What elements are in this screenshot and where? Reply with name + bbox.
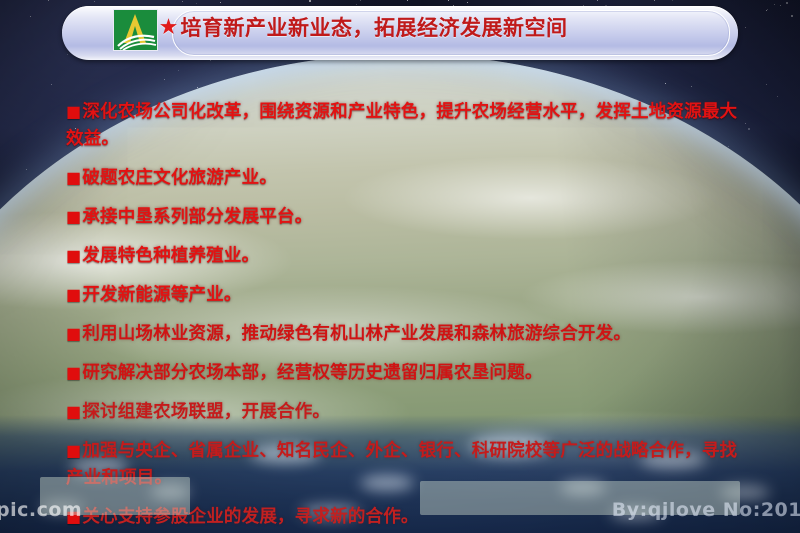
list-item-text: 利用山场林业资源，推动绿色有机山林产业发展和森林旅游综合开发。 bbox=[82, 324, 631, 344]
star-dot bbox=[94, 1, 95, 2]
list-item-text: 关心支持参股企业的发展，寻求新的合作。 bbox=[82, 507, 418, 527]
bullet-marker-icon: ■ bbox=[66, 324, 81, 343]
presentation-slide: ★ 培育新产业新业态，拓展经济发展新空间 ■深化农场公司化改革，围绕资源和产业特… bbox=[0, 0, 800, 533]
bullet-marker-icon: ■ bbox=[66, 402, 81, 421]
list-item: ■破题农庄文化旅游产业。 bbox=[66, 164, 742, 192]
page-title-text: 培育新产业新业态，拓展经济发展新空间 bbox=[181, 12, 568, 42]
list-item: ■发展特色种植养殖业。 bbox=[66, 242, 742, 270]
list-item-text: 深化农场公司化改革，围绕资源和产业特色，提升农场经营水平，发挥土地资源最大效益。 bbox=[66, 102, 737, 149]
star-dot bbox=[30, 16, 31, 17]
list-item: ■深化农场公司化改革，围绕资源和产业特色，提升农场经营水平，发挥土地资源最大效益… bbox=[66, 98, 742, 153]
star-icon: ★ bbox=[160, 16, 178, 38]
agriculture-company-logo-icon bbox=[113, 9, 158, 51]
list-item-text: 探讨组建农场联盟，开展合作。 bbox=[82, 402, 330, 422]
list-item-text: 加强与央企、省属企业、知名民企、外企、银行、科研院校等广泛的战略合作，寻找产业和… bbox=[66, 441, 737, 488]
bullet-marker-icon: ■ bbox=[66, 102, 81, 121]
list-item: ■探讨组建农场联盟，开展合作。 bbox=[66, 398, 742, 426]
list-item-text: 开发新能源等产业。 bbox=[82, 285, 241, 305]
bullet-list: ■深化农场公司化改革，围绕资源和产业特色，提升农场经营水平，发挥土地资源最大效益… bbox=[66, 98, 742, 533]
bullet-marker-icon: ■ bbox=[66, 441, 81, 460]
list-item: ■承接中垦系列部分发展平台。 bbox=[66, 203, 742, 231]
star-dot bbox=[48, 0, 49, 1]
list-item-text: 研究解决部分农场本部，经营权等历史遗留归属农垦问题。 bbox=[82, 363, 542, 383]
list-item-text: 承接中垦系列部分发展平台。 bbox=[82, 207, 312, 227]
star-dot bbox=[791, 15, 793, 17]
bullet-marker-icon: ■ bbox=[66, 168, 81, 187]
bullet-marker-icon: ■ bbox=[66, 285, 81, 304]
list-item-text: 破题农庄文化旅游产业。 bbox=[82, 168, 277, 188]
list-item: ■研究解决部分农场本部，经营权等历史遗留归属农垦问题。 bbox=[66, 359, 742, 387]
page-title: ★ 培育新产业新业态，拓展经济发展新空间 bbox=[160, 0, 790, 54]
bullet-marker-icon: ■ bbox=[66, 363, 81, 382]
list-item: ■加强与央企、省属企业、知名民企、外企、银行、科研院校等广泛的战略合作，寻找产业… bbox=[66, 437, 742, 492]
list-item: ■关心支持参股企业的发展，寻求新的合作。 bbox=[66, 503, 742, 531]
list-item-text: 发展特色种植养殖业。 bbox=[82, 246, 259, 266]
bullet-marker-icon: ■ bbox=[66, 246, 81, 265]
bullet-marker-icon: ■ bbox=[66, 507, 81, 526]
list-item: ■利用山场林业资源，推动绿色有机山林产业发展和森林旅游综合开发。 bbox=[66, 320, 742, 348]
list-item: ■开发新能源等产业。 bbox=[66, 281, 742, 309]
bullet-marker-icon: ■ bbox=[66, 207, 81, 226]
logo-artwork bbox=[114, 10, 157, 50]
